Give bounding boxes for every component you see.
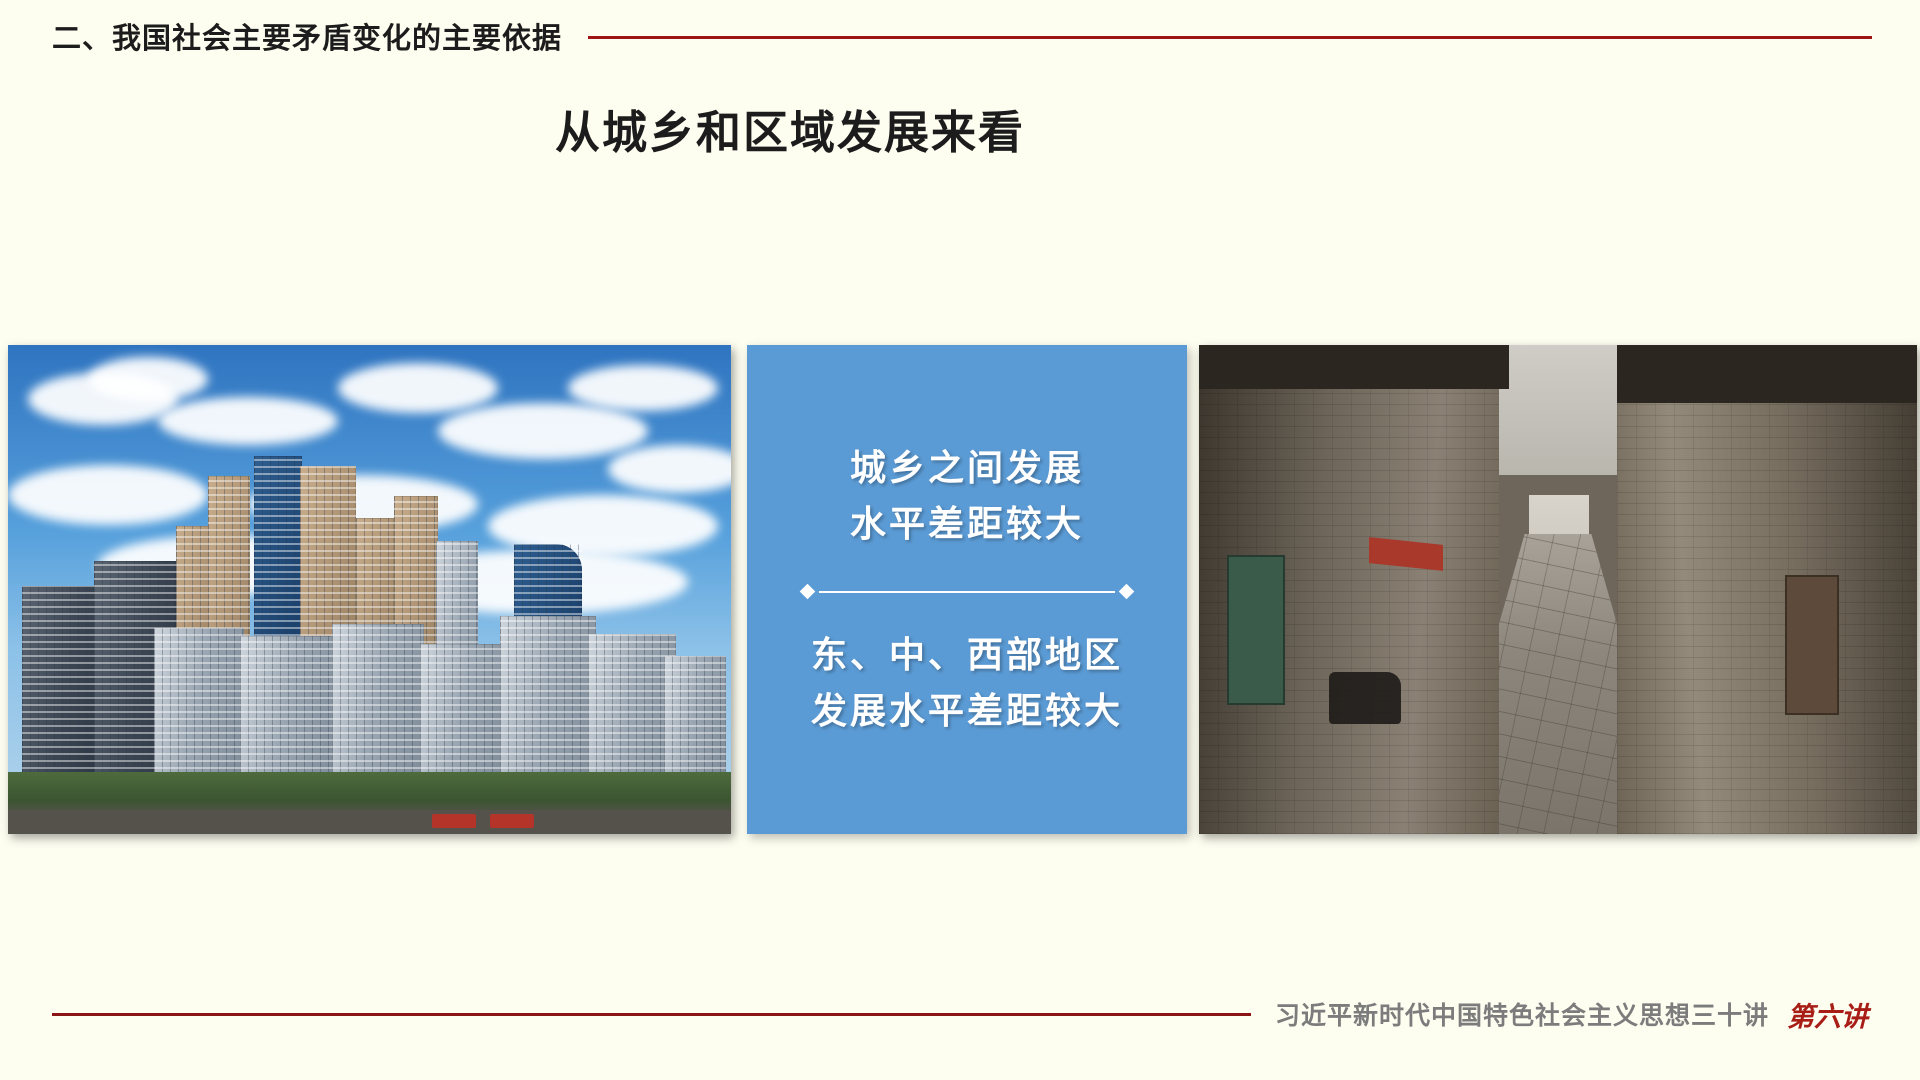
footer-series-title: 习近平新时代中国特色社会主义思想三十讲: [1275, 996, 1769, 1032]
modern-city-skyline-photo: [8, 345, 731, 834]
bus-shape: [490, 814, 534, 828]
right-wall: [1617, 345, 1917, 834]
roof-eave: [1199, 345, 1509, 389]
panel-top-line-1: 城乡之间发展: [850, 440, 1084, 496]
road-strip: [8, 810, 731, 834]
panel-bottom-line-1: 东、中、西部地区: [811, 627, 1123, 683]
building-shape: [332, 624, 424, 776]
diamond-icon: [800, 584, 816, 600]
center-text-panel: 城乡之间发展 水平差距较大 东、中、西部地区 发展水平差距较大: [747, 345, 1187, 834]
divider-rule: [819, 591, 1115, 593]
section-label: 二、我国社会主要矛盾变化的主要依据: [52, 15, 562, 57]
building-shape: [588, 634, 676, 776]
slide-root: 二、我国社会主要矛盾变化的主要依据 从城乡和区域发展来看: [0, 0, 1920, 1080]
page-title-text: 从城乡和区域发展来看: [555, 96, 1025, 161]
motorcycle-shape: [1329, 672, 1401, 724]
header-divider-rule: [588, 36, 1872, 39]
cloud-shape: [88, 357, 208, 401]
page-title: 从城乡和区域发展来看: [0, 96, 1920, 161]
building-shape: [500, 616, 596, 776]
slide-header: 二、我国社会主要矛盾变化的主要依据: [52, 14, 1872, 58]
panel-bottom-line-2: 发展水平差距较大: [811, 683, 1123, 739]
green-door: [1227, 555, 1285, 705]
cloud-shape: [158, 397, 338, 445]
wooden-door: [1785, 575, 1839, 715]
building-shape: [420, 644, 506, 776]
cloud-shape: [338, 363, 498, 413]
diamond-icon: [1119, 584, 1135, 600]
bus-shape: [432, 814, 476, 828]
slide-footer: 习近平新时代中国特色社会主义思想三十讲 第六讲: [52, 994, 1868, 1034]
panel-top-line-2: 水平差距较大: [850, 496, 1084, 552]
wall-texture: [1617, 345, 1917, 834]
content-band: 城乡之间发展 水平差距较大 东、中、西部地区 发展水平差距较大: [0, 345, 1920, 835]
cloud-shape: [438, 403, 648, 459]
cloud-shape: [568, 365, 718, 411]
panel-divider: [802, 586, 1132, 597]
cloud-shape: [8, 465, 208, 525]
old-village-alley-photo: [1199, 345, 1917, 834]
building-shape: [240, 636, 336, 776]
footer-divider-rule: [52, 1013, 1251, 1016]
roof-eave: [1617, 345, 1917, 403]
building-shape: [664, 656, 726, 776]
building-shape: [154, 628, 244, 776]
building-shape: [22, 586, 100, 776]
footer-lecture-label: 第六讲: [1787, 995, 1868, 1034]
